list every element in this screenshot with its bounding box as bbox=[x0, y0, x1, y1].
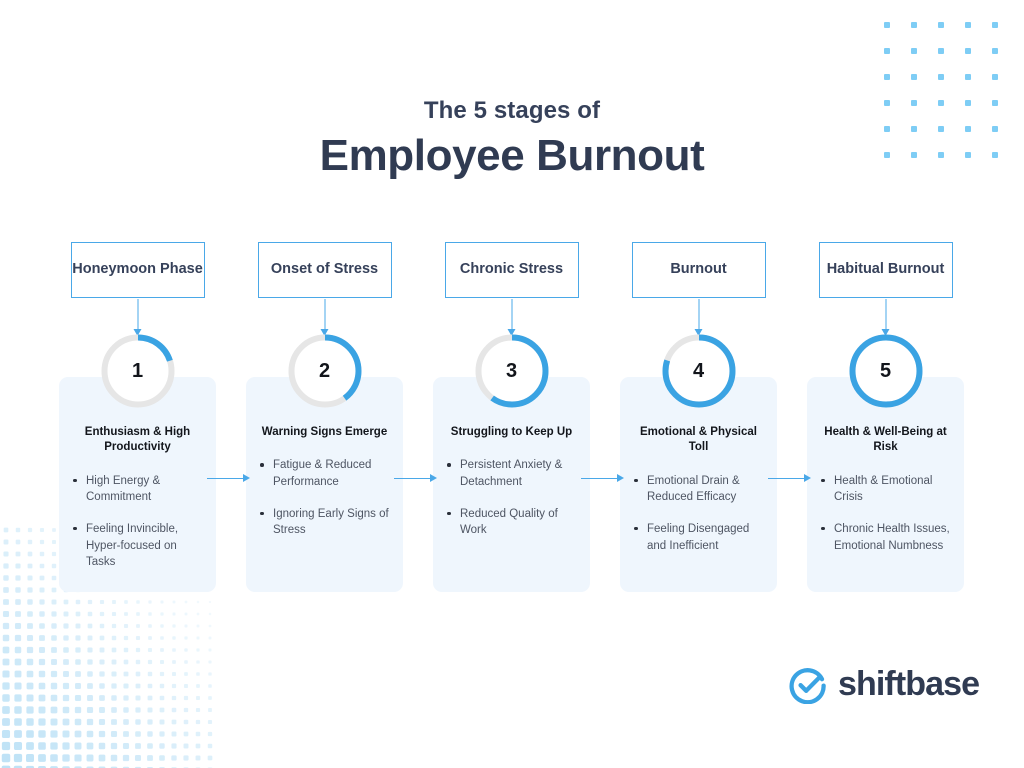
page-subtitle: The 5 stages of bbox=[0, 96, 1024, 126]
stage-card: Enthusiasm & High ProductivityHigh Energ… bbox=[59, 377, 216, 592]
stage-number: 1 bbox=[101, 334, 175, 408]
stage-progress-ring: 3 bbox=[475, 334, 549, 408]
stage-bullet: Fatigue & Reduced Performance bbox=[257, 457, 392, 490]
stage-phase-label: Chronic Stress bbox=[460, 261, 563, 278]
stage-3: Chronic StressStruggling to Keep UpPersi… bbox=[418, 242, 605, 298]
stage-phase-label: Habitual Burnout bbox=[827, 261, 945, 278]
stage-phase-label: Honeymoon Phase bbox=[72, 261, 203, 278]
decorative-dot bbox=[938, 22, 944, 28]
stage-card: Health & Well-Being at RiskHealth & Emot… bbox=[807, 377, 964, 592]
stage-2: Onset of StressWarning Signs EmergeFatig… bbox=[231, 242, 418, 298]
stage-phase-box[interactable]: Honeymoon Phase bbox=[71, 242, 205, 298]
stage-phase-box[interactable]: Chronic Stress bbox=[445, 242, 579, 298]
stage-connector-arrow-horizontal bbox=[207, 474, 252, 483]
check-circle-icon bbox=[789, 666, 827, 704]
stage-bullet-list: Health & Emotional CrisisChronic Health … bbox=[818, 473, 953, 555]
stage-connector-arrow-vertical bbox=[320, 299, 329, 339]
decorative-dot bbox=[992, 22, 998, 28]
stage-card: Struggling to Keep UpPersistent Anxiety … bbox=[433, 377, 590, 592]
stage-bullet-list: Persistent Anxiety & DetachmentReduced Q… bbox=[444, 457, 579, 539]
stage-bullet-list: High Energy & CommitmentFeeling Invincib… bbox=[70, 473, 205, 571]
stage-bullet: Reduced Quality of Work bbox=[444, 506, 579, 539]
stage-card: Emotional & Physical TollEmotional Drain… bbox=[620, 377, 777, 592]
stage-5: Habitual BurnoutHealth & Well-Being at R… bbox=[792, 242, 979, 298]
stage-bullet: Chronic Health Issues, Emotional Numbnes… bbox=[818, 521, 953, 554]
stage-connector-arrow-horizontal bbox=[768, 474, 813, 483]
stage-progress-ring: 2 bbox=[288, 334, 362, 408]
decorative-dot bbox=[992, 48, 998, 54]
decorative-dot bbox=[884, 22, 890, 28]
stage-progress-ring: 5 bbox=[849, 334, 923, 408]
decorative-dot bbox=[884, 74, 890, 80]
decorative-dot bbox=[884, 48, 890, 54]
decorative-dot bbox=[938, 48, 944, 54]
stage-connector-arrow-vertical bbox=[507, 299, 516, 339]
shiftbase-logo[interactable]: shiftbase bbox=[789, 665, 979, 704]
stage-phase-box[interactable]: Burnout bbox=[632, 242, 766, 298]
decorative-dot bbox=[992, 74, 998, 80]
stage-card-heading: Enthusiasm & High Productivity bbox=[70, 425, 205, 456]
stage-phase-box[interactable]: Onset of Stress bbox=[258, 242, 392, 298]
logo-wordmark: shiftbase bbox=[838, 665, 979, 704]
stage-card-heading: Warning Signs Emerge bbox=[257, 425, 392, 440]
stage-card-heading: Emotional & Physical Toll bbox=[631, 425, 766, 456]
stage-bullet-list: Fatigue & Reduced PerformanceIgnoring Ea… bbox=[257, 457, 392, 539]
decorative-dot bbox=[965, 74, 971, 80]
stage-1: Honeymoon PhaseEnthusiasm & High Product… bbox=[44, 242, 231, 298]
stage-number: 4 bbox=[662, 334, 736, 408]
stage-phase-label: Burnout bbox=[670, 261, 726, 278]
stage-bullet: Health & Emotional Crisis bbox=[818, 473, 953, 506]
stage-number: 3 bbox=[475, 334, 549, 408]
stage-phase-label: Onset of Stress bbox=[271, 261, 378, 278]
decorative-dot bbox=[965, 48, 971, 54]
stages-row: Honeymoon PhaseEnthusiasm & High Product… bbox=[44, 242, 980, 298]
stage-card: Warning Signs EmergeFatigue & Reduced Pe… bbox=[246, 377, 403, 592]
stage-number: 5 bbox=[849, 334, 923, 408]
decorative-dot bbox=[911, 74, 917, 80]
stage-phase-box[interactable]: Habitual Burnout bbox=[819, 242, 953, 298]
stage-connector-arrow-horizontal bbox=[394, 474, 439, 483]
page-title: Employee Burnout bbox=[0, 130, 1024, 183]
stage-bullet: Ignoring Early Signs of Stress bbox=[257, 506, 392, 539]
stage-bullet-list: Emotional Drain & Reduced EfficacyFeelin… bbox=[631, 473, 766, 555]
decorative-dot bbox=[911, 48, 917, 54]
stage-connector-arrow-vertical bbox=[133, 299, 142, 339]
stage-connector-arrow-vertical bbox=[694, 299, 703, 339]
stage-card-heading: Struggling to Keep Up bbox=[444, 425, 579, 440]
stage-progress-ring: 1 bbox=[101, 334, 175, 408]
decorative-dot bbox=[965, 22, 971, 28]
stage-bullet: Feeling Disengaged and Inefficient bbox=[631, 521, 766, 554]
stage-card-heading: Health & Well-Being at Risk bbox=[818, 425, 953, 456]
stage-bullet: Feeling Invincible, Hyper-focused on Tas… bbox=[70, 521, 205, 571]
stage-progress-ring: 4 bbox=[662, 334, 736, 408]
decorative-dot bbox=[938, 74, 944, 80]
stage-connector-arrow-vertical bbox=[881, 299, 890, 339]
stage-bullet: High Energy & Commitment bbox=[70, 473, 205, 506]
stage-connector-arrow-horizontal bbox=[581, 474, 626, 483]
stage-number: 2 bbox=[288, 334, 362, 408]
page-header: The 5 stages of Employee Burnout bbox=[0, 96, 1024, 183]
stage-4: BurnoutEmotional & Physical TollEmotiona… bbox=[605, 242, 792, 298]
stage-bullet: Emotional Drain & Reduced Efficacy bbox=[631, 473, 766, 506]
stage-bullet: Persistent Anxiety & Detachment bbox=[444, 457, 579, 490]
decorative-dot bbox=[911, 22, 917, 28]
